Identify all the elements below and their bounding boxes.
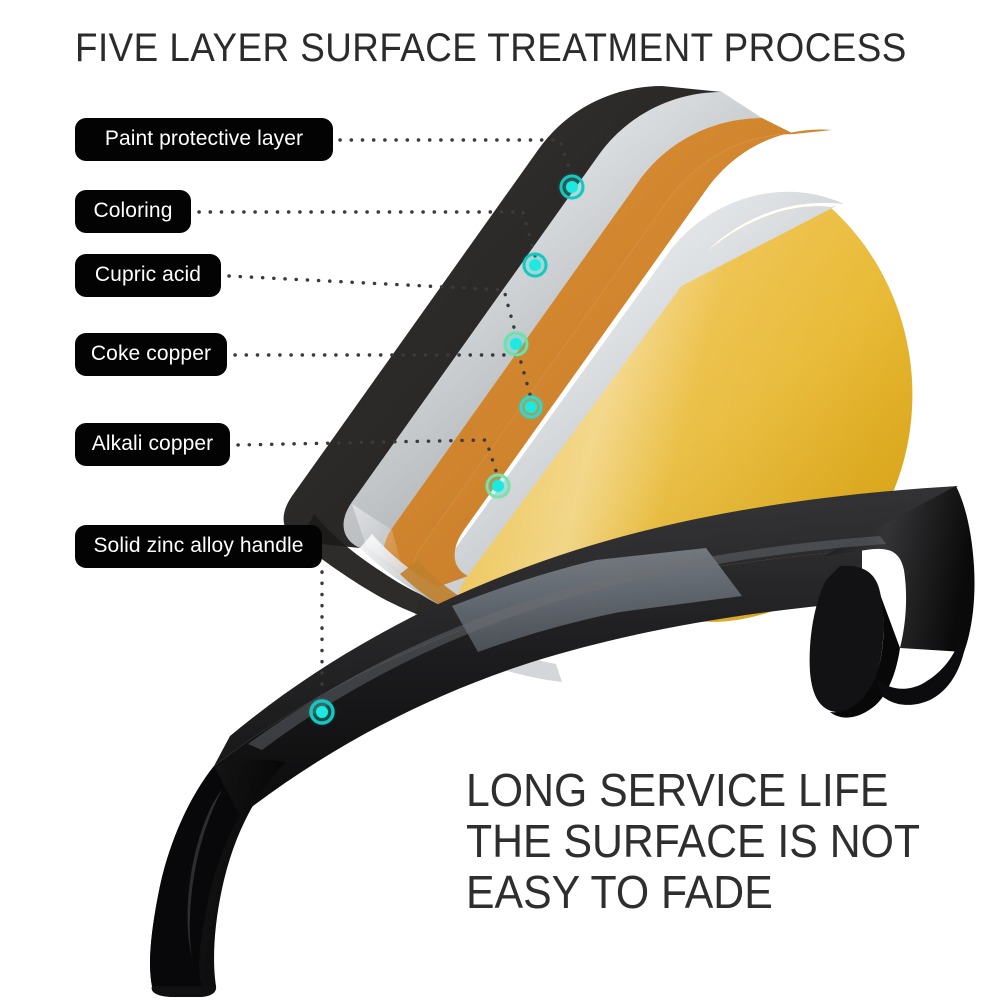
callout-solid-zinc-alloy-handle[interactable]: Solid zinc alloy handle: [75, 525, 322, 568]
infographic-canvas: FIVE LAYER SURFACE TREATMENT PROCESS Pai…: [0, 0, 1000, 1000]
callout-label: Paint protective layer: [105, 128, 303, 149]
tagline-line-1: LONG SERVICE LIFE: [466, 765, 931, 816]
tagline: LONG SERVICE LIFE THE SURFACE IS NOT EAS…: [466, 765, 931, 918]
callout-label: Coke copper: [91, 343, 211, 364]
callout-label: Coloring: [93, 200, 172, 221]
tagline-line-2: THE SURFACE IS NOT: [466, 816, 931, 867]
page-title: FIVE LAYER SURFACE TREATMENT PROCESS: [75, 24, 885, 72]
callout-alkali-copper[interactable]: Alkali copper: [75, 423, 230, 466]
callout-label: Alkali copper: [92, 433, 214, 454]
callout-coloring[interactable]: Coloring: [75, 190, 191, 233]
callout-label: Solid zinc alloy handle: [93, 535, 303, 556]
callout-label: Cupric acid: [95, 264, 201, 285]
callout-paint-protective-layer[interactable]: Paint protective layer: [75, 118, 333, 161]
callout-coke-copper[interactable]: Coke copper: [75, 333, 227, 376]
tagline-line-3: EASY TO FADE: [466, 867, 931, 918]
callout-cupric-acid[interactable]: Cupric acid: [75, 254, 221, 297]
